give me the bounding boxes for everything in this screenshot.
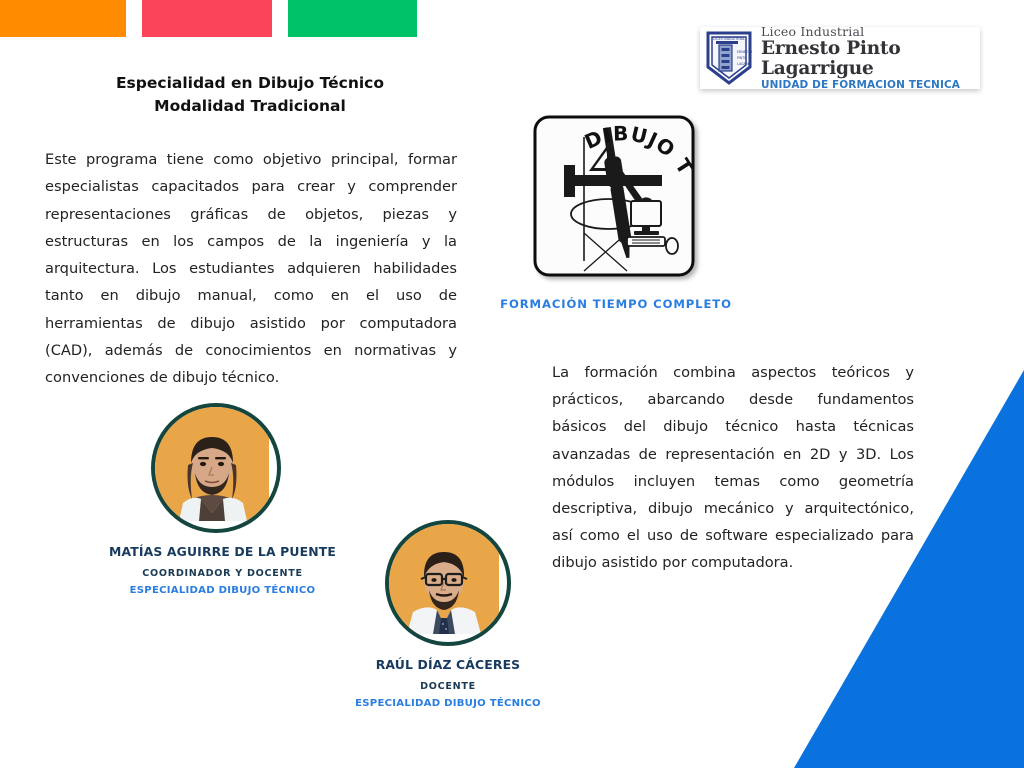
avatar-photo-2: [389, 524, 499, 634]
top-bar-orange: [0, 0, 126, 37]
avatar-raul: [385, 520, 511, 646]
left-description-paragraph: Este programa tiene como objetivo princi…: [45, 146, 457, 392]
svg-text:ERNESTO: ERNESTO: [737, 50, 752, 54]
school-logo-line1: Liceo Industrial: [761, 25, 974, 38]
page-title-line1: Especialidad en Dibujo Técnico: [45, 72, 455, 95]
svg-text:LAGARR.: LAGARR.: [737, 62, 751, 66]
school-logo-line3: UNIDAD DE FORMACION TECNICA: [761, 80, 974, 91]
svg-text:PINTO: PINTO: [737, 56, 747, 60]
top-bar-green: [288, 0, 417, 37]
center-logo-caption: FORMACIÓN TIEMPO COMPLETO: [480, 297, 752, 311]
staff-card-2: RAÚL DÍAZ CÁCERES DOCENTE ESPECIALIDAD D…: [330, 520, 566, 709]
school-crest-icon: LICEO INDUSTRIAL ERNESTO PINTO LAGARR.: [706, 31, 752, 85]
dibujo-tecnico-logo-icon: DIBUJO TÉCNICO: [531, 113, 702, 284]
page-title-line2: Modalidad Tradicional: [45, 95, 455, 118]
page-title: Especialidad en Dibujo Técnico Modalidad…: [45, 72, 455, 119]
school-logo-line2: Ernesto Pinto Lagarrigue: [761, 39, 974, 78]
right-description-paragraph: La formación combina aspectos teóricos y…: [552, 359, 914, 577]
avatar-matias: [151, 403, 281, 533]
staff-dept-2: ESPECIALIDAD DIBUJO TÉCNICO: [330, 698, 566, 709]
svg-text:LICEO INDUSTRIAL: LICEO INDUSTRIAL: [713, 37, 745, 41]
school-logo: LICEO INDUSTRIAL ERNESTO PINTO LAGARR. L…: [700, 27, 980, 89]
school-logo-text: Liceo Industrial Ernesto Pinto Lagarrigu…: [761, 25, 974, 91]
staff-role-2: DOCENTE: [330, 681, 566, 692]
avatar-photo-1: [155, 407, 269, 521]
staff-name-2: RAÚL DÍAZ CÁCERES: [330, 657, 566, 672]
top-bar-red: [142, 0, 272, 37]
